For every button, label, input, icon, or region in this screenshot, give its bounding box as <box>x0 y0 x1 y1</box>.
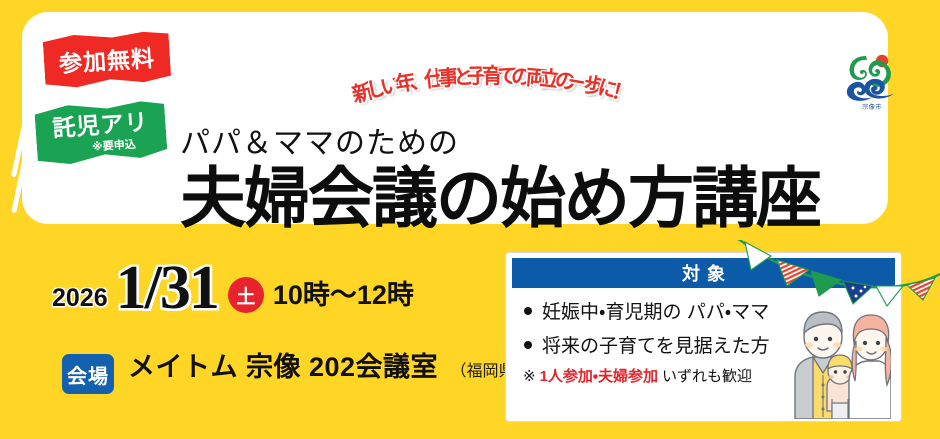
title-char: 議 <box>372 162 438 234</box>
catchcopy-char: 子 <box>467 60 489 91</box>
catchcopy-char: し <box>363 71 390 105</box>
title-brush-accent <box>503 186 523 195</box>
childcare-flag-note: ※要申込 <box>91 135 136 154</box>
catchcopy-char: い <box>378 68 404 102</box>
title-brush-accent <box>707 207 716 231</box>
catchcopy-char: 育 <box>482 60 503 90</box>
target-item-label: 妊娠中・育児期の パパ・ママ <box>542 297 769 324</box>
catchcopy-char: て <box>496 60 518 91</box>
note-mark-icon: ※ <box>523 367 536 385</box>
event-time: 10時〜12時 <box>273 273 414 312</box>
title-char: 婦 <box>244 162 310 234</box>
catchcopy-char: 立 <box>539 62 563 94</box>
catchcopy-char: 歩 <box>581 68 607 102</box>
catchcopy-char: 両 <box>525 61 548 93</box>
title-char: 講 <box>692 162 758 234</box>
catchcopy-char: 一 <box>567 66 593 99</box>
title-char: め <box>564 162 630 234</box>
bullet-icon <box>524 307 532 315</box>
title-char: 方 <box>628 162 694 234</box>
title-char: 始 <box>500 162 566 234</box>
venue-name: メイトム 宗像 202会議室 <box>128 352 438 382</box>
munakata-city-logo: 宗像市 <box>844 52 900 114</box>
catchcopy-char: 、 <box>407 64 432 97</box>
target-panel-header: 対象 <box>512 258 895 288</box>
title-brush-accent <box>276 204 293 231</box>
venue-badge: 会場 <box>62 354 114 394</box>
logo-city-name: 宗像市 <box>844 102 900 111</box>
title-brush-accent <box>420 207 427 229</box>
bullet-icon <box>524 341 532 349</box>
title-brush-accent <box>633 174 690 185</box>
title-char: 会 <box>308 162 374 234</box>
catchcopy-char: 年 <box>392 66 418 99</box>
catchcopy-char: の <box>510 60 533 91</box>
free-participation-flag-label: 参加無料 <box>58 39 156 79</box>
target-audience-panel: 対象 妊娠中・育児期の パパ・ママ 将来の子育てを見据えた方 ※ 1人参加・夫婦… <box>505 252 902 422</box>
event-year: 2026 <box>52 284 108 313</box>
note-tail: いずれも歓迎 <box>662 365 752 386</box>
event-date: 1/31 <box>116 258 218 318</box>
family-illustration <box>787 299 891 419</box>
note-highlight: 1人参加・夫婦参加 <box>540 365 658 386</box>
catchcopy-char: 仕 <box>422 62 446 94</box>
catchcopy-char: の <box>553 64 578 97</box>
catchcopy-char: 新 <box>348 74 376 108</box>
title-char: の <box>436 162 502 234</box>
hero-main-title: 夫婦会議の始め方講座 <box>180 154 820 234</box>
event-date-row: 2026 1/31 土 10時〜12時 <box>52 258 414 318</box>
catchcopy-char: に <box>595 71 622 105</box>
title-char: 夫 <box>180 162 246 234</box>
day-of-week-badge: 土 <box>228 277 264 313</box>
title-brush-accent <box>410 207 417 229</box>
title-brush-accent <box>571 176 624 221</box>
title-char: 座 <box>756 162 822 234</box>
target-item-label: 将来の子育てを見据えた方 <box>542 331 770 358</box>
catchcopy-arched-text: 新しい年、仕事と子育ての両立の一歩に！ 新しい年、仕事と子育ての両立の一歩に！ <box>258 54 728 110</box>
title-brush-accent <box>802 210 810 233</box>
title-brush-accent <box>310 166 371 181</box>
catchcopy-char: ！ <box>609 74 637 108</box>
title-brush-accent <box>184 180 242 189</box>
catchcopy-char: と <box>452 60 475 91</box>
event-flyer-poster: 新しい年、仕事と子育ての両立の一歩に！ 新しい年、仕事と子育ての両立の一歩に！ … <box>0 0 940 439</box>
catchcopy-char: 事 <box>437 61 460 93</box>
